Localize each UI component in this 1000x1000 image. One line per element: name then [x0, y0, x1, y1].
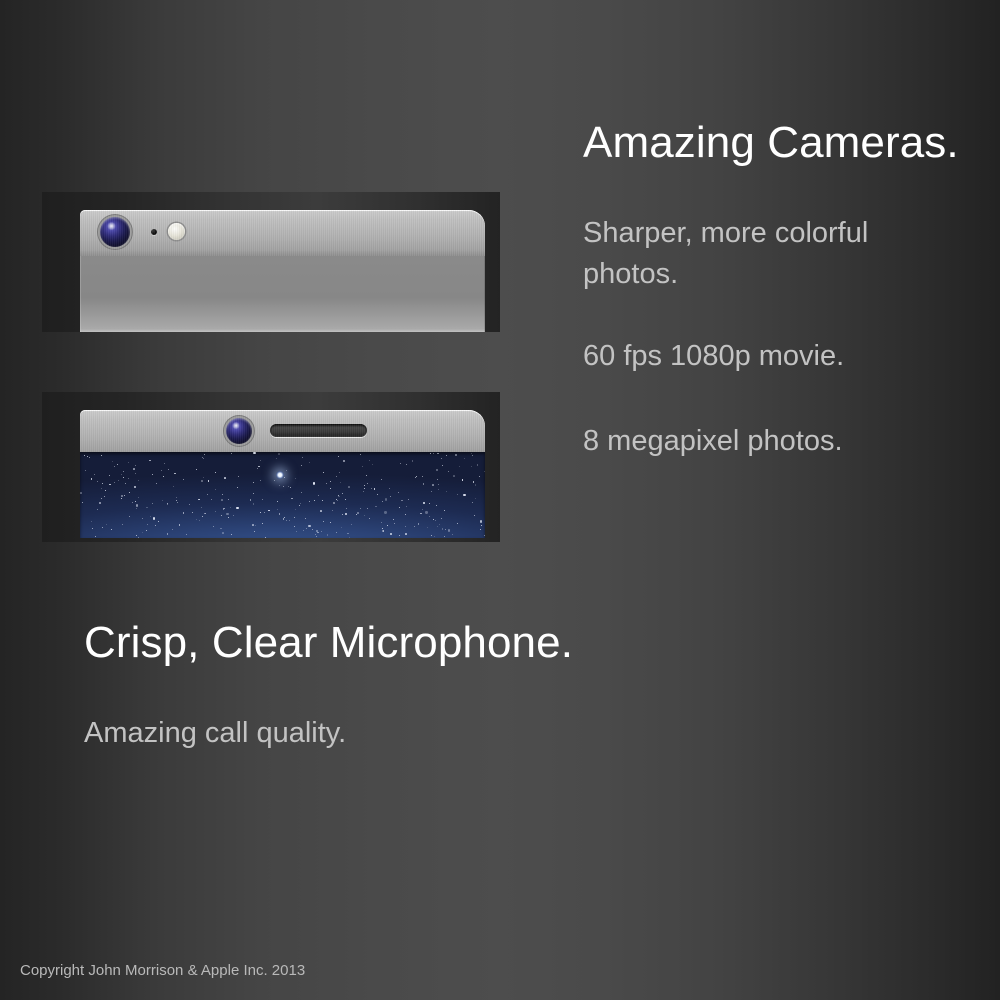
device-top-band — [80, 210, 485, 256]
microphone-heading: Crisp, Clear Microphone. — [84, 618, 573, 668]
bright-star-icon — [276, 471, 284, 479]
front-camera-lens-icon — [226, 418, 252, 444]
rear-microphone-hole-icon — [151, 229, 157, 235]
device-screen-wallpaper — [80, 452, 485, 538]
copyright-notice: Copyright John Morrison & Apple Inc. 201… — [20, 962, 305, 979]
earpiece-speaker-icon — [270, 424, 367, 437]
microphone-feature-line-1: Amazing call quality. — [84, 713, 346, 754]
camera-flash-icon — [168, 223, 185, 240]
device-rear-graphic — [80, 210, 485, 332]
rear-device-photo — [42, 192, 500, 332]
device-rear-body — [80, 256, 485, 332]
rear-camera-lens-icon — [100, 217, 130, 247]
cameras-feature-line-3: 8 megapixel photos. — [583, 421, 843, 462]
device-front-graphic — [80, 410, 485, 538]
cameras-feature-line-1: Sharper, more colorful photos. — [583, 213, 943, 295]
device-top-band — [80, 410, 485, 452]
starfield-icon — [80, 452, 485, 538]
front-device-photo — [42, 392, 500, 542]
cameras-feature-line-2: 60 fps 1080p movie. — [583, 336, 844, 377]
cameras-heading: Amazing Cameras. — [583, 118, 959, 168]
